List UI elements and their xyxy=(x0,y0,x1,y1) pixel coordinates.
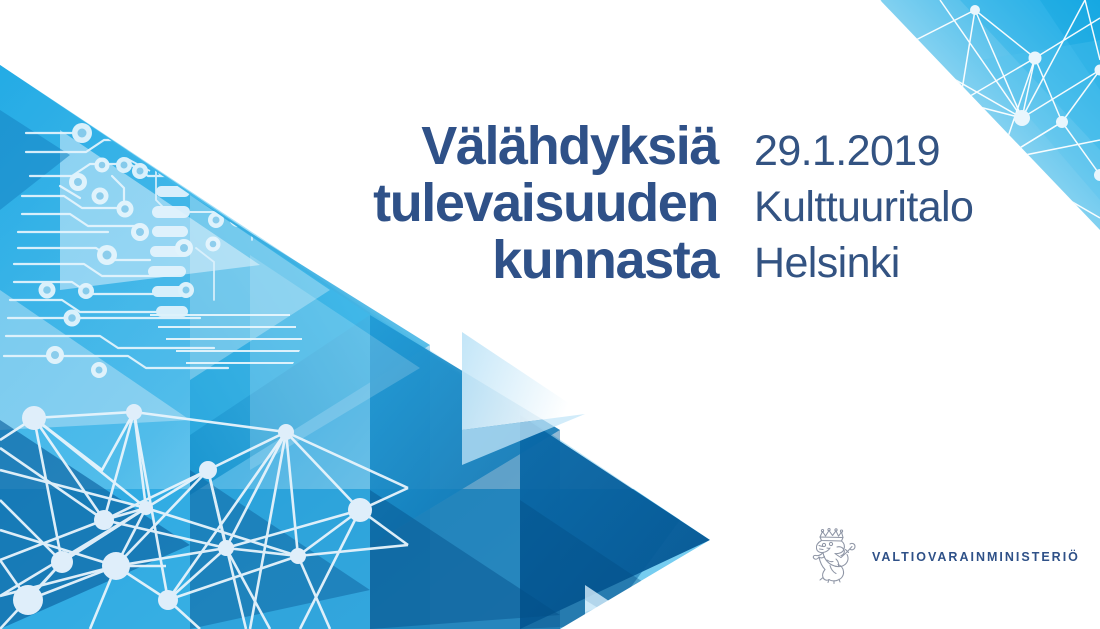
headline-line-3: kunnasta xyxy=(300,232,718,289)
headline-line-1: Välähdyksiä xyxy=(300,118,718,175)
event-city: Helsinki xyxy=(754,235,1084,291)
finnish-lion-crest-icon xyxy=(810,527,860,585)
ministry-logo: VALTIOVARAINMINISTERIÖ xyxy=(810,527,1080,585)
event-details: 29.1.2019 Kulttuuritalo Helsinki xyxy=(754,123,1084,291)
event-venue: Kulttuuritalo xyxy=(754,179,1084,235)
headline-line-2: tulevaisuuden xyxy=(300,175,718,232)
page-title: Välähdyksiä tulevaisuuden kunnasta xyxy=(300,118,718,289)
banner-content: Välähdyksiä tulevaisuuden kunnasta 29.1.… xyxy=(0,0,1100,629)
event-banner: Välähdyksiä tulevaisuuden kunnasta 29.1.… xyxy=(0,0,1100,629)
event-date: 29.1.2019 xyxy=(754,123,1084,179)
ministry-wordmark: VALTIOVARAINMINISTERIÖ xyxy=(872,548,1080,564)
